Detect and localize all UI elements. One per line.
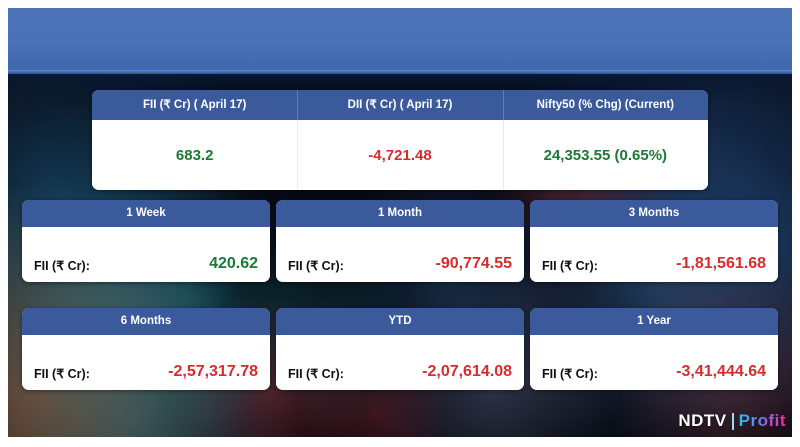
summary-header-nifty50: Nifty50 (% Chg) (Current) <box>503 90 708 120</box>
period-card-body: FII (₹ Cr): -90,774.55 <box>276 227 524 282</box>
period-card-label: FII (₹ Cr): <box>288 258 344 273</box>
period-card-value: -90,774.55 <box>435 255 512 273</box>
period-card-title: 1 Week <box>22 200 270 227</box>
period-card-6-months: 6 Months FII (₹ Cr): -2,57,317.78 <box>22 308 270 390</box>
period-card-value: 420.62 <box>209 255 258 273</box>
period-card-1-year: 1 Year FII (₹ Cr): -3,41,444.64 <box>530 308 778 390</box>
summary-value-dii: -4,721.48 <box>297 120 502 190</box>
period-card-body: FII (₹ Cr): -3,41,444.64 <box>530 335 778 390</box>
period-card-label: FII (₹ Cr): <box>542 366 598 381</box>
logo-separator <box>732 413 734 430</box>
period-card-title: 1 Month <box>276 200 524 227</box>
logo-sub-text: Profit <box>739 411 786 431</box>
period-card-value: -1,81,561.68 <box>676 255 766 273</box>
summary-table: FII (₹ Cr) ( April 17) DII (₹ Cr) ( Apri… <box>92 90 708 190</box>
period-card-label: FII (₹ Cr): <box>34 258 90 273</box>
period-card-body: FII (₹ Cr): -2,57,317.78 <box>22 335 270 390</box>
period-card-ytd: YTD FII (₹ Cr): -2,07,614.08 <box>276 308 524 390</box>
period-card-1-week: 1 Week FII (₹ Cr): 420.62 <box>22 200 270 282</box>
period-card-title: 3 Months <box>530 200 778 227</box>
period-card-title: 1 Year <box>530 308 778 335</box>
period-card-value: -2,57,317.78 <box>168 363 258 381</box>
title-banner <box>8 8 792 70</box>
summary-value-fii: 683.2 <box>92 120 297 190</box>
period-card-label: FII (₹ Cr): <box>288 366 344 381</box>
summary-value-nifty50: 24,353.55 (0.65%) <box>503 120 708 190</box>
period-card-label: FII (₹ Cr): <box>542 258 598 273</box>
period-card-body: FII (₹ Cr): 420.62 <box>22 227 270 282</box>
screenshot-frame: FII -DII Flows FII (₹ Cr) ( April 17) DI… <box>0 0 800 447</box>
graphic-stage: FII -DII Flows FII (₹ Cr) ( April 17) DI… <box>8 8 792 437</box>
summary-header-dii: DII (₹ Cr) ( April 17) <box>297 90 502 120</box>
period-card-value: -3,41,444.64 <box>676 363 766 381</box>
period-card-title: YTD <box>276 308 524 335</box>
summary-table-value-row: 683.2 -4,721.48 24,353.55 (0.65%) <box>92 120 708 190</box>
period-card-label: FII (₹ Cr): <box>34 366 90 381</box>
period-card-1-month: 1 Month FII (₹ Cr): -90,774.55 <box>276 200 524 282</box>
period-card-3-months: 3 Months FII (₹ Cr): -1,81,561.68 <box>530 200 778 282</box>
period-card-title: 6 Months <box>22 308 270 335</box>
period-card-value: -2,07,614.08 <box>422 363 512 381</box>
summary-header-fii: FII (₹ Cr) ( April 17) <box>92 90 297 120</box>
ndtv-profit-logo: NDTV Profit <box>678 411 786 431</box>
period-card-body: FII (₹ Cr): -2,07,614.08 <box>276 335 524 390</box>
logo-brand-text: NDTV <box>678 411 726 431</box>
period-card-body: FII (₹ Cr): -1,81,561.68 <box>530 227 778 282</box>
summary-table-header-row: FII (₹ Cr) ( April 17) DII (₹ Cr) ( Apri… <box>92 90 708 120</box>
title-banner-underline <box>8 70 792 74</box>
